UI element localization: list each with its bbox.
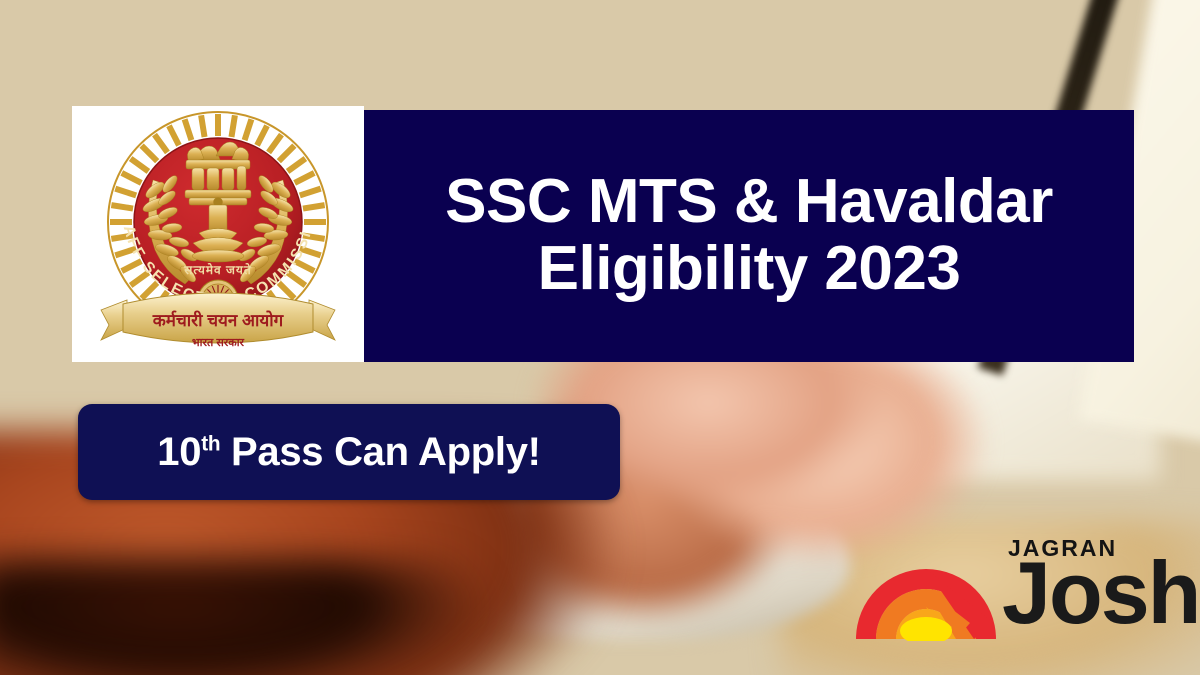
sunrise-icon bbox=[852, 561, 1000, 641]
promo-banner-image: सत्यमेव जयते STAFF SEL bbox=[0, 0, 1200, 675]
subtitle-prefix: 10 bbox=[157, 430, 201, 474]
ssc-logo-box: सत्यमेव जयते STAFF SEL bbox=[72, 106, 364, 362]
jagran-josh-wordmark: JAGRAN Josh bbox=[1004, 533, 1184, 661]
subtitle-ordinal: th bbox=[201, 432, 220, 455]
ssc-ribbon: कर्मचारी चयन आयोग bbox=[101, 293, 335, 343]
ssc-motto-text: सत्यमेव जयते bbox=[183, 263, 252, 277]
forearm-shadow-blur bbox=[0, 560, 490, 675]
ssc-ribbon-subtext: भारत सरकार bbox=[192, 337, 245, 349]
ssc-ribbon-hindi-text: कर्मचारी चयन आयोग bbox=[152, 310, 285, 330]
ashoka-emblem-icon bbox=[185, 142, 251, 262]
ssc-emblem-icon: सत्यमेव जयते STAFF SEL bbox=[93, 104, 343, 354]
jagran-josh-logo: JAGRAN Josh bbox=[852, 533, 1182, 661]
title-line-1: SSC MTS & Havaldar bbox=[445, 169, 1053, 236]
brand-josh-text: Josh bbox=[1002, 549, 1199, 637]
subtitle-text: 10th Pass Can Apply! bbox=[157, 430, 540, 475]
subtitle-rest: Pass Can Apply! bbox=[220, 430, 540, 474]
subtitle-banner: 10th Pass Can Apply! bbox=[78, 404, 620, 500]
title-line-2: Eligibility 2023 bbox=[538, 236, 961, 303]
title-banner: SSC MTS & Havaldar Eligibility 2023 bbox=[364, 110, 1134, 362]
